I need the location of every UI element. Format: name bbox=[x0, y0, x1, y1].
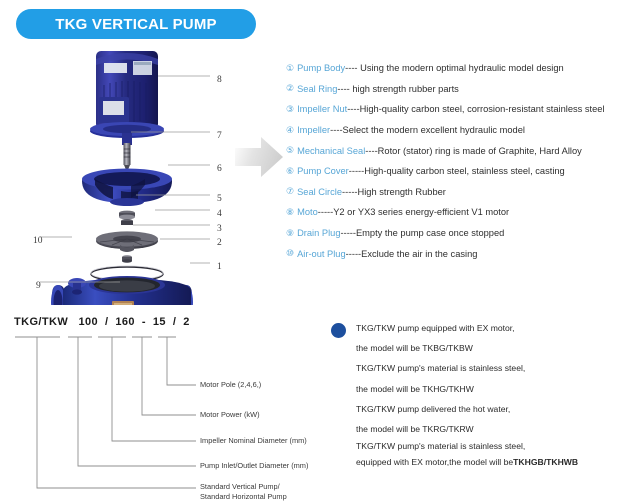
model-label-impeller-dia: Impeller Nominal Diameter (mm) bbox=[200, 436, 307, 445]
note-line-1: TKG/TKW pump equipped with EX motor, bbox=[331, 318, 617, 338]
model-variant-notes: TKG/TKW pump equipped with EX motor, the… bbox=[331, 318, 617, 472]
model-label-standard-line1: Standard Vertical Pump/ bbox=[200, 482, 280, 491]
callout-7: 7 bbox=[217, 131, 222, 141]
model-label-inlet-outlet: Pump Inlet/Outlet Diameter (mm) bbox=[200, 461, 308, 470]
note-line-8: equipped with EX motor,the model will be… bbox=[331, 452, 617, 472]
callout-3: 3 bbox=[217, 224, 222, 234]
callout-1: 1 bbox=[217, 262, 222, 272]
part-description: ----High-quality carbon steel, corrosion… bbox=[347, 104, 604, 114]
part-item-7: ⑦ Seal Circle -----High strength Rubber bbox=[286, 182, 617, 203]
note-line-7: TKG/TKW pump's material is stainless ste… bbox=[331, 439, 617, 452]
part-description: ----Rotor (stator) ring is made of Graph… bbox=[365, 146, 581, 156]
note-line-3: TKG/TKW pump's material is stainless ste… bbox=[331, 358, 617, 378]
part-item-5: ⑤ Mechanical Seal ----Rotor (stator) rin… bbox=[286, 140, 617, 161]
part-item-10: ⑩ Air-out Plug -----Exclude the air in t… bbox=[286, 243, 617, 264]
note-line-2: the model will be TKBG/TKBW bbox=[331, 338, 617, 358]
part-description: -----High-quality carbon steel, stainles… bbox=[349, 166, 565, 176]
part-name: Impeller Nut bbox=[297, 104, 347, 114]
parts-list: ① Pump Body ---- Using the modern optima… bbox=[286, 58, 617, 264]
part-name: Drain Plug bbox=[297, 228, 340, 238]
right-arrow-icon bbox=[233, 134, 285, 180]
part-number: ⑨ bbox=[286, 228, 294, 239]
callout-4: 4 bbox=[217, 209, 222, 219]
part-item-1: ① Pump Body ---- Using the modern optima… bbox=[286, 58, 617, 79]
part-number: ⑧ bbox=[286, 207, 294, 218]
part-item-4: ④ Impeller ----Select the modern excelle… bbox=[286, 120, 617, 141]
part-name: Moto bbox=[297, 207, 318, 217]
part-number: ② bbox=[286, 83, 294, 94]
part-number: ⑦ bbox=[286, 186, 294, 197]
part-name: Seal Circle bbox=[297, 187, 342, 197]
part-number: ⑤ bbox=[286, 145, 294, 156]
page-title: TKG VERTICAL PUMP bbox=[55, 16, 216, 33]
part-description: ---- high strength rubber parts bbox=[337, 84, 458, 94]
model-label-motor-pole: Motor Pole (2,4,6,) bbox=[200, 380, 261, 389]
part-item-8: ⑧ Moto -----Y2 or YX3 series energy-effi… bbox=[286, 202, 617, 223]
model-code-diagram: TKG/TKW 100 / 160 - 15 / 2 M bbox=[0, 310, 330, 500]
part-description: -----Empty the pump case once stopped bbox=[341, 228, 505, 238]
note-line-4: the model will be TKHG/TKHW bbox=[331, 379, 617, 399]
part-description: -----Y2 or YX3 series energy-efficient V… bbox=[318, 207, 509, 217]
part-description: ----Select the modern excellent hydrauli… bbox=[330, 125, 525, 135]
bullet-dot-icon bbox=[331, 323, 346, 338]
part-name: Air-out Plug bbox=[297, 249, 346, 259]
page-title-banner: TKG VERTICAL PUMP bbox=[16, 9, 256, 39]
part-name: Pump Body bbox=[297, 63, 345, 73]
callout-8: 8 bbox=[217, 75, 222, 85]
model-label-motor-power: Motor Power (kW) bbox=[200, 410, 260, 419]
part-number: ① bbox=[286, 63, 294, 74]
part-name: Seal Ring bbox=[297, 84, 337, 94]
part-number: ⑥ bbox=[286, 166, 294, 177]
note-line-6: the model will be TKRG/TKRW bbox=[331, 419, 617, 439]
part-item-2: ② Seal Ring ---- high strength rubber pa… bbox=[286, 79, 617, 100]
part-item-9: ⑨ Drain Plug -----Empty the pump case on… bbox=[286, 223, 617, 244]
part-name: Pump Cover bbox=[297, 166, 349, 176]
exploded-pump-diagram bbox=[0, 45, 240, 305]
callout-10: 10 bbox=[33, 236, 43, 246]
part-description: -----High strength Rubber bbox=[342, 187, 446, 197]
part-number: ③ bbox=[286, 104, 294, 115]
part-name: Impeller bbox=[297, 125, 330, 135]
callout-5: 5 bbox=[217, 194, 222, 204]
part-item-6: ⑥ Pump Cover -----High-quality carbon st… bbox=[286, 161, 617, 182]
note-line-8-text: equipped with EX motor,the model will be bbox=[356, 457, 513, 467]
callout-6: 6 bbox=[217, 164, 222, 174]
part-number: ④ bbox=[286, 125, 294, 136]
note-line-5: TKG/TKW pump delivered the hot water, bbox=[331, 399, 617, 419]
callout-2: 2 bbox=[217, 238, 222, 248]
callout-9: 9 bbox=[36, 281, 41, 291]
part-name: Mechanical Seal bbox=[297, 146, 365, 156]
part-description: ---- Using the modern optimal hydraulic … bbox=[345, 63, 564, 73]
part-number: ⑩ bbox=[286, 248, 294, 259]
note-line-8-model: TKHGB/TKHWB bbox=[513, 457, 578, 467]
part-description: -----Exclude the air in the casing bbox=[346, 249, 478, 259]
part-item-3: ③ Impeller Nut ----High-quality carbon s… bbox=[286, 99, 617, 120]
